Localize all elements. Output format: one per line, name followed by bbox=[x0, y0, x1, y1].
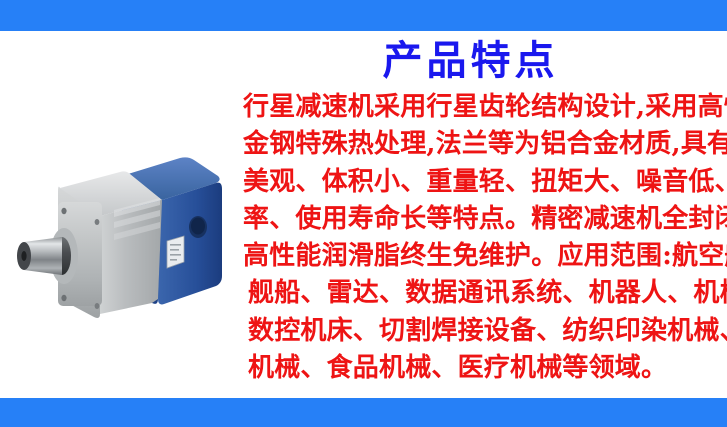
flange-bolt-hole-bottom bbox=[61, 295, 66, 301]
text-column: 产品特点 行星减速机采用行星齿轮结构设计,采用高性能合 金钢特殊热处理,法兰等为… bbox=[236, 34, 727, 394]
description-line: 行星减速机采用行星齿轮结构设计,采用高性能合 bbox=[236, 89, 727, 126]
description-line: 数控机床、切割焊接设备、纺织印染机械、包装 bbox=[236, 313, 727, 350]
description-line: 美观、体积小、重量轻、扭矩大、噪音低、高效 bbox=[236, 164, 727, 201]
flange-bolt-hole-top bbox=[61, 208, 66, 214]
product-photo-planetary-gear-reducer bbox=[2, 110, 242, 350]
description-line: 机械、食品机械、医疗机械等领域。 bbox=[236, 350, 727, 387]
description-line: 舰船、雷达、数据通讯系统、机器人、机械手臂、 bbox=[236, 275, 727, 312]
product-feature-banner: 产品特点 行星减速机采用行星齿轮结构设计,采用高性能合 金钢特殊热处理,法兰等为… bbox=[0, 0, 727, 427]
feature-description: 行星减速机采用行星齿轮结构设计,采用高性能合 金钢特殊热处理,法兰等为铝合金材质… bbox=[236, 89, 727, 387]
description-line: 率、使用寿命长等特点。精密减速机全封闭内加 bbox=[236, 201, 727, 238]
flange-bolt-hole-right-bottom bbox=[95, 303, 100, 309]
motor-nameplate bbox=[167, 236, 184, 268]
output-shaft-center-bore bbox=[21, 251, 26, 261]
top-accent-bar bbox=[0, 0, 727, 31]
motor-port-hole-shade bbox=[191, 218, 205, 235]
bottom-accent-bar bbox=[0, 398, 727, 427]
description-line: 高性能润滑脂终生免维护。应用范围:航空航天、 bbox=[236, 238, 727, 275]
description-line: 金钢特殊热处理,法兰等为铝合金材质,具有外形 bbox=[236, 126, 727, 163]
page-title: 产品特点 bbox=[236, 34, 727, 88]
flange-bolt-hole-right-top bbox=[95, 219, 100, 225]
